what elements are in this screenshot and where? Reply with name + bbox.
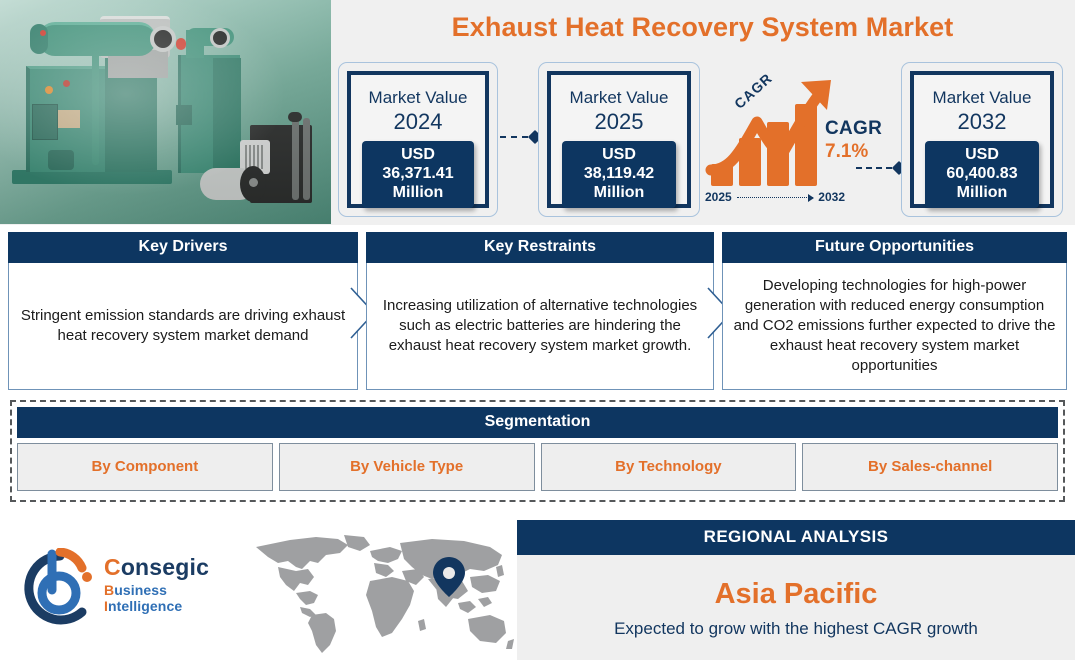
cagr-year-axis: 2025 2032: [705, 190, 845, 204]
cagr-label: CAGR: [825, 118, 882, 140]
cagr-block: CAGR CAGR 7.1% 2025 2032: [705, 78, 900, 213]
logo-tagline-business: usiness: [114, 582, 167, 598]
market-value-card-2024: Market Value 2024 USD 36,371.41 Million: [338, 62, 498, 217]
logo-tagline-intelligence: ntelligence: [108, 598, 182, 614]
regional-analysis-heading: REGIONAL ANALYSIS: [517, 520, 1075, 555]
cagr-readout: CAGR 7.1%: [825, 118, 882, 163]
panel-heading: Key Restraints: [366, 232, 714, 263]
market-value-badge: USD 38,119.42 Million: [562, 141, 676, 209]
panel-key-restraints: Key Restraints Increasing utilization of…: [366, 232, 714, 390]
regional-analysis-section: REGIONAL ANALYSIS Asia Pacific Expected …: [517, 520, 1075, 660]
infographic-page: Exhaust Heat Recovery System Market Mark…: [0, 0, 1075, 660]
segmentation-tile-vehicle-type[interactable]: By Vehicle Type: [279, 443, 535, 491]
panel-text: Developing technologies for high-power g…: [722, 263, 1067, 390]
world-map-icon: [252, 533, 514, 655]
market-value-label: Market Value: [570, 88, 669, 108]
segmentation-tile-sales-channel[interactable]: By Sales-channel: [802, 443, 1058, 491]
cagr-start-year: 2025: [705, 190, 732, 204]
panel-text: Increasing utilization of alternative te…: [366, 263, 714, 390]
market-value-badge: USD 36,371.41 Million: [362, 141, 474, 209]
logo-tagline-b: B: [104, 582, 114, 598]
market-value-amount: USD 60,400.83: [946, 146, 1017, 182]
connector-line: [500, 136, 528, 138]
market-value-badge: USD 60,400.83 Million: [925, 141, 1039, 209]
regional-analysis-note: Expected to grow with the highest CAGR g…: [614, 619, 978, 639]
connector-2024-to-2025: [500, 131, 540, 143]
segmentation-section: Segmentation By Component By Vehicle Typ…: [10, 400, 1065, 502]
logo-wordmark: Consegic Business Intelligence: [104, 556, 241, 614]
market-value-year: 2025: [595, 109, 644, 134]
logo-tagline: Business Intelligence: [104, 582, 241, 614]
regional-analysis-body: Asia Pacific Expected to grow with the h…: [517, 555, 1075, 660]
market-value-card-2025: Market Value 2025 USD 38,119.42 Million: [538, 62, 700, 217]
market-value-year: 2024: [394, 109, 443, 134]
market-value-label: Market Value: [369, 88, 468, 108]
connector-cagr-to-2032: [856, 162, 904, 174]
market-value-unit: Million: [393, 184, 444, 201]
panel-text: Stringent emission standards are driving…: [8, 263, 358, 390]
cagr-value: 7.1%: [825, 141, 882, 163]
market-value-label: Market Value: [933, 88, 1032, 108]
product-photo: [0, 0, 331, 224]
market-value-unit: Million: [594, 184, 645, 201]
panel-heading: Key Drivers: [8, 232, 358, 263]
segmentation-tile-component[interactable]: By Component: [17, 443, 273, 491]
connector-line: [856, 167, 892, 169]
market-value-card-inner: Market Value 2025 USD 38,119.42 Million: [547, 71, 691, 208]
panel-key-drivers: Key Drivers Stringent emission standards…: [8, 232, 358, 390]
market-value-card-2032: Market Value 2032 USD 60,400.83 Million: [901, 62, 1063, 217]
logo-name-rest: onsegic: [121, 554, 209, 580]
market-value-card-inner: Market Value 2032 USD 60,400.83 Million: [910, 71, 1054, 208]
panel-future-opportunities: Future Opportunities Developing technolo…: [722, 232, 1067, 390]
market-value-card-inner: Market Value 2024 USD 36,371.41 Million: [347, 71, 489, 208]
segmentation-heading: Segmentation: [17, 407, 1058, 438]
photo-vignette: [0, 0, 331, 224]
world-map: [252, 533, 514, 655]
regional-analysis-region: Asia Pacific: [715, 578, 878, 611]
cagr-axis-arrow-icon: [737, 197, 814, 198]
segmentation-tile-technology[interactable]: By Technology: [541, 443, 797, 491]
cagr-end-year: 2032: [818, 190, 845, 204]
market-value-year: 2032: [958, 109, 1007, 134]
page-title: Exhaust Heat Recovery System Market: [340, 12, 1065, 43]
logo-company-name: Consegic: [104, 556, 241, 579]
market-value-amount: USD 38,119.42: [584, 146, 654, 182]
company-logo: Consegic Business Intelligence: [16, 548, 241, 632]
market-value-amount: USD 36,371.41: [382, 146, 453, 182]
consegic-logo-icon: [16, 548, 100, 628]
cagr-growth-chart-icon: [705, 78, 845, 196]
segmentation-tiles: By Component By Vehicle Type By Technolo…: [17, 443, 1058, 491]
market-value-unit: Million: [957, 184, 1008, 201]
panel-heading: Future Opportunities: [722, 232, 1067, 263]
logo-initial: C: [104, 554, 121, 580]
